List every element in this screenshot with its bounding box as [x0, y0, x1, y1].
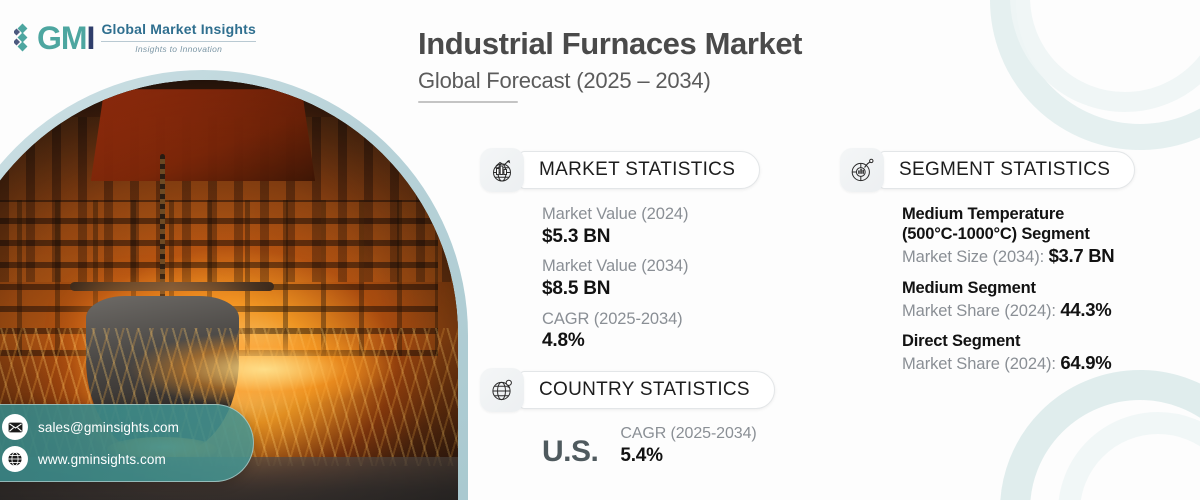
segment-sub-label: Market Share (2024):	[902, 302, 1060, 320]
envelope-icon	[2, 414, 28, 440]
segment-statistics-section: SEGMENT STATISTICS Medium Temperature (5…	[840, 148, 1135, 385]
segment-sub: Market Share (2024): 64.9%	[902, 351, 1135, 375]
segment-statistics-pill: SEGMENT STATISTICS	[880, 151, 1135, 189]
segment-statistics-body: Medium Temperature (500°C-1000°C) Segmen…	[840, 204, 1135, 376]
segment-sub-value: 64.9%	[1060, 352, 1111, 373]
infographic-canvas: sales@gminsights.com www.gminsights.com	[0, 0, 1200, 500]
country-statistics-pill: COUNTRY STATISTICS	[520, 371, 775, 409]
stat-row: Market Value (2034) $8.5 BN	[542, 256, 760, 301]
market-statistics-title: MARKET STATISTICS	[539, 159, 735, 181]
market-statistics-section: MARKET STATISTICS Market Value (2024) $5…	[480, 148, 760, 361]
stat-value: $5.3 BN	[542, 225, 760, 250]
stat-label: CAGR (2025-2034)	[620, 424, 756, 444]
country-statistics-title: COUNTRY STATISTICS	[539, 379, 750, 401]
segment-statistics-header: SEGMENT STATISTICS	[840, 148, 1135, 192]
gmi-logo-text: Global Market Insights Insights to Innov…	[101, 22, 256, 53]
segment-heading-line1: Direct Segment	[902, 331, 1135, 351]
gmi-company-name: Global Market Insights	[101, 22, 256, 37]
stat-value: $8.5 BN	[542, 277, 760, 302]
segment-block: Direct Segment Market Share (2024): 64.9…	[902, 331, 1135, 376]
decorative-ring-top-right-inner	[1010, 0, 1200, 112]
contact-website-row[interactable]: www.gminsights.com	[2, 446, 253, 472]
gmi-wordmark: GMI	[37, 22, 94, 54]
country-statistics-section: COUNTRY STATISTICS U.S. CAGR (2025-2034)…	[480, 368, 775, 469]
segment-sub: Market Share (2024): 44.3%	[902, 298, 1135, 322]
stat-label: Market Value (2024)	[542, 204, 760, 225]
stat-value: 4.8%	[542, 329, 760, 354]
country-statistics-body: U.S. CAGR (2025-2034) 5.4%	[480, 424, 775, 469]
stat-row: CAGR (2025-2034) 4.8%	[542, 309, 760, 354]
stat-label: Market Value (2034)	[542, 256, 760, 277]
globe-pin-icon	[480, 368, 524, 412]
stat-value: 5.4%	[620, 444, 756, 469]
country-name: U.S.	[542, 437, 598, 469]
gmi-tagline: Insights to Innovation	[101, 44, 256, 54]
segment-statistics-title: SEGMENT STATISTICS	[899, 159, 1110, 181]
segment-heading-line1: Medium Segment	[902, 278, 1135, 298]
gmi-logo-mark: GMI	[14, 22, 94, 54]
contact-email-row[interactable]: sales@gminsights.com	[2, 414, 253, 440]
segment-block: Medium Temperature (500°C-1000°C) Segmen…	[902, 204, 1135, 269]
decorative-ring-top-right-outer	[990, 0, 1200, 150]
globe-icon	[2, 446, 28, 472]
page-subtitle: Global Forecast (2025 – 2034)	[418, 68, 711, 94]
contact-email-text: sales@gminsights.com	[38, 420, 179, 435]
title-divider	[418, 101, 518, 103]
gmi-logo[interactable]: GMI Global Market Insights Insights to I…	[14, 22, 256, 54]
segment-heading-line2: (500°C-1000°C) Segment	[902, 224, 1135, 244]
globe-bar-chart-icon	[480, 148, 524, 192]
stat-row: Market Value (2024) $5.3 BN	[542, 204, 760, 249]
segment-sub-value: $3.7 BN	[1049, 245, 1115, 266]
contact-bar: sales@gminsights.com www.gminsights.com	[0, 404, 254, 482]
segment-sub-value: 44.3%	[1060, 299, 1111, 320]
diamond-cluster-icon	[14, 22, 34, 54]
segment-sub-label: Market Share (2024):	[902, 355, 1060, 373]
donut-chart-arrow-icon	[840, 148, 884, 192]
contact-website-text: www.gminsights.com	[38, 452, 166, 467]
market-statistics-pill: MARKET STATISTICS	[520, 151, 760, 189]
segment-sub-label: Market Size (2034):	[902, 248, 1049, 266]
segment-sub: Market Size (2034): $3.7 BN	[902, 244, 1135, 268]
country-cagr: CAGR (2025-2034) 5.4%	[620, 424, 756, 469]
country-statistics-header: COUNTRY STATISTICS	[480, 368, 775, 412]
decorative-ring-bottom-right-outer	[1000, 370, 1200, 500]
segment-block: Medium Segment Market Share (2024): 44.3…	[902, 278, 1135, 323]
stat-label: CAGR (2025-2034)	[542, 309, 760, 330]
segment-heading-line1: Medium Temperature	[902, 204, 1135, 224]
page-title: Industrial Furnaces Market	[418, 26, 802, 62]
market-statistics-header: MARKET STATISTICS	[480, 148, 760, 192]
market-statistics-body: Market Value (2024) $5.3 BN Market Value…	[480, 204, 760, 354]
decorative-ring-bottom-right-inner	[1058, 412, 1200, 500]
gmi-logo-divider	[101, 41, 256, 42]
